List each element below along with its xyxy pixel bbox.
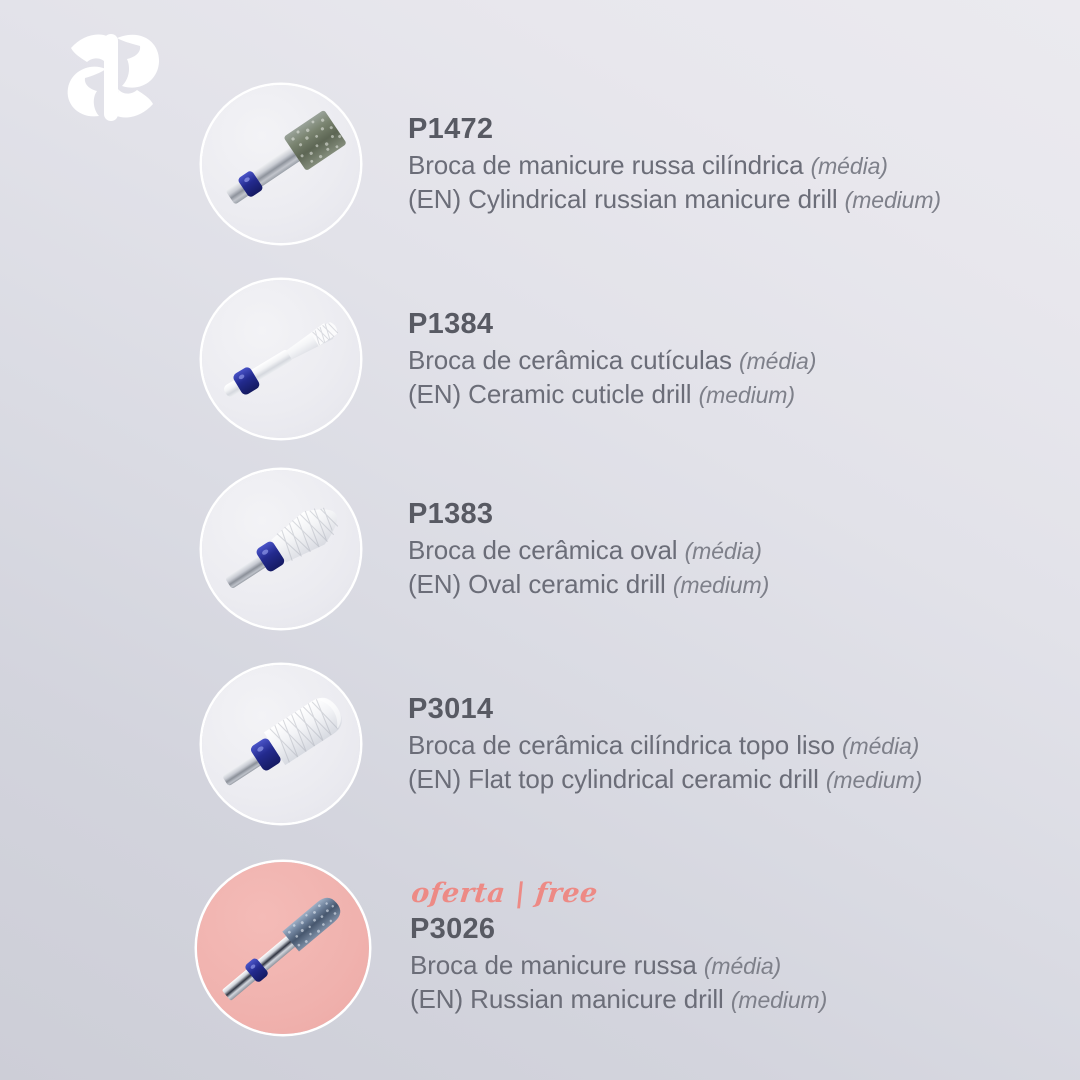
- product-qualifier-en: (medium): [699, 382, 795, 408]
- product-qualifier-en: (medium): [673, 572, 769, 598]
- product-info: oferta | free P3026 Broca de manicure ru…: [410, 880, 1080, 1017]
- product-thumbnail-wrap: [202, 280, 360, 438]
- product-row: P1383 Broca de cerâmica oval (média) (EN…: [0, 470, 1080, 628]
- product-name-en-text: (EN) Ceramic cuticle drill: [408, 379, 691, 409]
- product-row: P3014 Broca de cerâmica cilíndrica topo …: [0, 665, 1080, 823]
- product-name-pt-text: Broca de cerâmica cilíndrica topo liso: [408, 730, 835, 760]
- product-name-pt: Broca de manicure russa (média): [410, 948, 1080, 982]
- product-name-pt: Broca de cerâmica oval (média): [408, 533, 1080, 567]
- product-info: P1383 Broca de cerâmica oval (média) (EN…: [408, 497, 1080, 602]
- product-row: P1384 Broca de cerâmica cutículas (média…: [0, 280, 1080, 438]
- product-name-en: (EN) Oval ceramic drill (medium): [408, 567, 1080, 601]
- product-name-pt-text: Broca de manicure russa cilíndrica: [408, 150, 803, 180]
- product-info: P3014 Broca de cerâmica cilíndrica topo …: [408, 692, 1080, 797]
- product-row: P1472 Broca de manicure russa cilíndrica…: [0, 85, 1080, 243]
- product-thumbnail-wrap: [202, 665, 360, 823]
- product-sku: P1472: [408, 112, 1080, 146]
- product-name-en-text: (EN) Oval ceramic drill: [408, 569, 666, 599]
- product-thumbnail[interactable]: [202, 85, 360, 243]
- catalog-page: P1472 Broca de manicure russa cilíndrica…: [0, 0, 1080, 1080]
- product-name-en: (EN) Cylindrical russian manicure drill …: [408, 182, 1080, 216]
- product-sku: P3014: [408, 692, 1080, 726]
- product-name-pt: Broca de cerâmica cutículas (média): [408, 343, 1080, 377]
- product-info: P1384 Broca de cerâmica cutículas (média…: [408, 307, 1080, 412]
- product-qualifier-pt: (média): [704, 953, 781, 979]
- product-thumbnail[interactable]: [202, 470, 360, 628]
- product-name-pt-text: Broca de cerâmica oval: [408, 535, 677, 565]
- product-name-pt: Broca de manicure russa cilíndrica (médi…: [408, 148, 1080, 182]
- offer-badge: oferta | free: [410, 880, 1080, 907]
- product-qualifier-en: (medium): [826, 767, 922, 793]
- product-qualifier-en: (medium): [845, 187, 941, 213]
- product-name-en: (EN) Ceramic cuticle drill (medium): [408, 377, 1080, 411]
- product-thumbnail-wrap: [202, 85, 360, 243]
- product-qualifier-en: (medium): [731, 987, 827, 1013]
- product-name-pt-text: Broca de manicure russa: [410, 950, 697, 980]
- product-thumbnail[interactable]: [202, 665, 360, 823]
- product-name-pt-text: Broca de cerâmica cutículas: [408, 345, 732, 375]
- product-thumbnail[interactable]: [202, 280, 360, 438]
- product-thumbnail-wrap: [202, 470, 360, 628]
- product-sku: P3026: [410, 912, 1080, 946]
- product-thumbnail-wrap: [197, 862, 369, 1034]
- product-info: P1472 Broca de manicure russa cilíndrica…: [408, 112, 1080, 217]
- product-qualifier-pt: (média): [739, 348, 816, 374]
- product-name-en-text: (EN) Cylindrical russian manicure drill: [408, 184, 838, 214]
- product-row-offer: oferta | free P3026 Broca de manicure ru…: [0, 862, 1080, 1034]
- product-qualifier-pt: (média): [685, 538, 762, 564]
- product-thumbnail[interactable]: [197, 862, 369, 1034]
- product-name-pt: Broca de cerâmica cilíndrica topo liso (…: [408, 728, 1080, 762]
- product-qualifier-pt: (média): [811, 153, 888, 179]
- product-name-en: (EN) Flat top cylindrical ceramic drill …: [408, 762, 1080, 796]
- product-name-en: (EN) Russian manicure drill (medium): [410, 982, 1080, 1016]
- product-sku: P1384: [408, 307, 1080, 341]
- product-name-en-text: (EN) Flat top cylindrical ceramic drill: [408, 764, 819, 794]
- product-qualifier-pt: (média): [842, 733, 919, 759]
- product-name-en-text: (EN) Russian manicure drill: [410, 984, 724, 1014]
- product-sku: P1383: [408, 497, 1080, 531]
